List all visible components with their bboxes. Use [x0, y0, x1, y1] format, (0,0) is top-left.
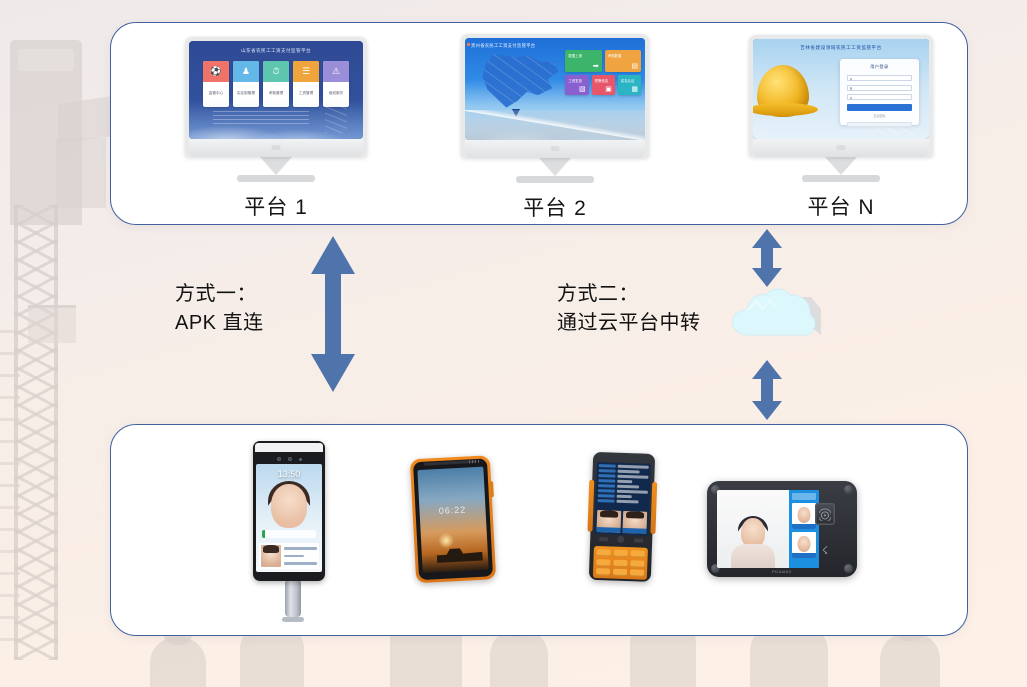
fingerprint-icon[interactable] [815, 503, 835, 525]
login-card-title: 用户登录 [847, 64, 912, 70]
keypad-key[interactable] [613, 550, 628, 557]
torso-graphic [731, 544, 775, 568]
list-item [598, 489, 615, 493]
monitor-base [802, 175, 880, 182]
platforms-panel: 山东省农民工工资支付监管平台 ⚽ 监管中心 ♟ 实名制管理 ⏱ [110, 22, 968, 225]
id-face-photo [792, 532, 816, 558]
hard-hat-graphic [757, 65, 809, 117]
platform-n-screen-title: 吉林省建设领域农民工工资监管平台 [753, 45, 929, 51]
captured-face-photo [596, 510, 621, 533]
captured-face-photo [792, 503, 816, 529]
tile[interactable]: 数据上报 ➡ [565, 50, 601, 72]
method-two-label: 方式二： 通过云平台中转 [557, 280, 701, 338]
tile[interactable]: 工资发放 ▧ [565, 75, 588, 95]
back-button[interactable] [599, 537, 608, 541]
list-value [617, 475, 648, 479]
platform-2-screen[interactable]: 贵州省农民工工资支付监管平台 数据上报 ➡ 考勤数据 [465, 38, 645, 140]
keypad-key[interactable] [596, 559, 611, 566]
recognition-status-banner [262, 530, 316, 538]
platform-1-screen[interactable]: 山东省农民工工资支付监管平台 ⚽ 监管中心 ♟ 实名制管理 ⏱ [189, 41, 363, 139]
home-button[interactable] [618, 536, 625, 543]
platform-2-monitor[interactable]: 贵州省农民工工资支付监管平台 数据上报 ➡ 考勤数据 [461, 34, 649, 222]
monitor-neck [825, 157, 857, 175]
nfc-icon: ☇ [815, 543, 835, 559]
platform-n-monitor[interactable]: 吉林省建设领域农民工工资监管平台 用户登录 忘记密码 [749, 35, 933, 221]
password-field[interactable] [847, 85, 912, 91]
china-map-graphic [479, 54, 558, 111]
export-icon: ➡ [593, 63, 599, 70]
captured-photo-thumbnail [261, 545, 281, 567]
username-field[interactable] [847, 75, 912, 81]
tile[interactable]: 考勤数据 ▤ [605, 50, 641, 72]
keypad-key[interactable] [613, 559, 628, 566]
list-item [598, 484, 615, 488]
alert-icon: ⚠ [332, 67, 340, 76]
terminal-top-strip [255, 443, 323, 452]
monitor-bezel: 吉林省建设领域农民工工资监管平台 用户登录 忘记密码 [749, 35, 933, 157]
tile[interactable]: 实名认证 ▦ [618, 75, 641, 95]
method-one-line2: APK 直连 [175, 309, 264, 338]
method-one-label: 方式一： APK 直连 [175, 280, 264, 338]
keypad-key[interactable] [597, 549, 612, 556]
led-indicator-icon [299, 458, 302, 461]
platform-2-screen-title: 贵州省农民工工资支付监管平台 [471, 43, 535, 49]
captcha-field[interactable] [847, 94, 912, 100]
monitor-base [237, 175, 315, 182]
rugged-tablet[interactable]: ☇ PDAMAX [707, 481, 863, 577]
terminal-screen[interactable]: 13:50 [256, 464, 322, 572]
monitor-chin [189, 139, 363, 157]
list-value [618, 470, 640, 474]
list-item [599, 469, 616, 473]
cloud-icon [727, 283, 823, 345]
login-card: 用户登录 忘记密码 [840, 59, 919, 125]
method-one-line1: 方式一： [175, 280, 264, 309]
keypad-key[interactable] [613, 569, 628, 576]
mountain-graphic [465, 110, 645, 140]
platform-1-label: 平台 1 [185, 191, 367, 221]
list-item [599, 464, 616, 468]
badge-icon: ▦ [631, 86, 638, 93]
menu-button[interactable] [634, 538, 643, 542]
monitor-chin [753, 139, 929, 157]
pda-grip-right [650, 482, 657, 534]
rugged-pda-handheld[interactable] [589, 452, 661, 582]
list-item [598, 474, 615, 478]
shield-icon: ⚽ [210, 67, 221, 76]
forgot-password-link[interactable]: 忘记密码 [847, 114, 912, 118]
sun-graphic [438, 533, 455, 550]
terminal-foot [282, 617, 304, 622]
monitor-chin [465, 140, 645, 158]
list-value [617, 485, 639, 489]
cloud-upper-arrow [748, 228, 786, 288]
pda-keypad[interactable] [593, 546, 648, 580]
worker-info-list [595, 462, 651, 510]
keypad-key[interactable] [630, 569, 645, 576]
corner-bolt-icon [844, 485, 853, 494]
phone-clock: 06:22 [419, 504, 485, 517]
login-button[interactable] [847, 104, 912, 111]
face-graphic [271, 484, 307, 528]
text-lines-graphic [213, 111, 309, 127]
list-item [598, 479, 615, 483]
keypad-key[interactable] [630, 550, 645, 557]
platform-1-monitor[interactable]: 山东省农民工工资支付监管平台 ⚽ 监管中心 ♟ 实名制管理 ⏱ [185, 37, 367, 221]
devices-panel: 13:50 [110, 424, 968, 636]
info-row [284, 555, 304, 558]
calendar-icon: ▤ [631, 63, 638, 70]
tablet-screen[interactable] [717, 490, 819, 568]
keypad-key[interactable] [630, 560, 645, 567]
method-two-line1: 方式二： [557, 280, 701, 309]
platform-1-screen-title: 山东省农民工工资支付监管平台 [189, 48, 363, 54]
id-face-photo [622, 511, 647, 534]
pda-screen[interactable] [594, 462, 650, 536]
list-value [618, 465, 649, 469]
person-icon: ♟ [242, 67, 250, 76]
clock-icon: ⏱ [272, 67, 279, 76]
list-item [598, 494, 615, 498]
pda-grip-left [587, 480, 594, 532]
person-graphic [730, 518, 776, 568]
sensor-strip-icon [469, 460, 481, 464]
monitor-bezel: 贵州省农民工工资支付监管平台 数据上报 ➡ 考勤数据 [461, 34, 649, 158]
keypad-key[interactable] [596, 568, 611, 575]
platform-2-label: 平台 2 [461, 192, 649, 222]
list-value [616, 500, 638, 504]
monitor-neck [539, 158, 571, 176]
platform-n-label: 平台 N [749, 191, 933, 221]
phone-screen[interactable]: 06:22 [417, 467, 488, 573]
camera-array [256, 454, 322, 464]
logo-dot-icon [467, 43, 470, 46]
pda-body [589, 452, 655, 582]
recognition-info-card [259, 543, 319, 569]
terminal-pole [285, 581, 301, 617]
tablet-body: ☇ PDAMAX [707, 481, 857, 577]
monitor-base [516, 176, 594, 183]
side-button[interactable] [489, 481, 494, 497]
camera-icon [277, 457, 281, 461]
monitor-neck [260, 157, 292, 175]
document-icon: ▧ [579, 86, 586, 93]
face-recognition-terminal[interactable]: 13:50 [253, 441, 333, 622]
cloud-lower-arrow [748, 359, 786, 421]
sidebar-title-bar [792, 493, 816, 500]
list-icon: ☰ [302, 67, 310, 76]
phone-body: 06:22 [410, 455, 496, 583]
list-value [617, 495, 632, 499]
tile[interactable]: 预警信息 ▣ [592, 75, 615, 95]
list-value [617, 490, 648, 494]
list-value [617, 480, 632, 484]
live-camera-view [717, 490, 789, 568]
platform-2-tile-grid: 数据上报 ➡ 考勤数据 ▤ 工资发放 [565, 50, 641, 98]
tablet-brand-label: PDAMAX [772, 569, 792, 574]
apk-direct-connection-arrow [305, 234, 361, 394]
diagram-canvas: 山东省农民工工资支付监管平台 ⚽ 监管中心 ♟ 实名制管理 ⏱ [0, 0, 1027, 687]
monitor-bezel: 山东省农民工工资支付监管平台 ⚽ 监管中心 ♟ 实名制管理 ⏱ [185, 37, 367, 157]
method-two-line2: 通过云平台中转 [557, 309, 701, 338]
lock-icon: ▣ [605, 86, 612, 93]
footer-bar [847, 122, 912, 127]
info-row [284, 562, 317, 565]
platform-n-screen[interactable]: 吉林省建设领域农民工工资监管平台 用户登录 忘记密码 [753, 39, 929, 139]
info-row [284, 547, 317, 550]
rugged-smartphone[interactable]: 06:22 [410, 455, 506, 584]
crane-graphic [325, 93, 347, 133]
face-compare-row [594, 508, 649, 536]
corner-bolt-icon [844, 564, 853, 573]
terminal-body: 13:50 [253, 441, 325, 581]
camera-icon [288, 457, 292, 461]
terminal-clock: 13:50 [256, 469, 322, 479]
list-item [597, 499, 614, 503]
